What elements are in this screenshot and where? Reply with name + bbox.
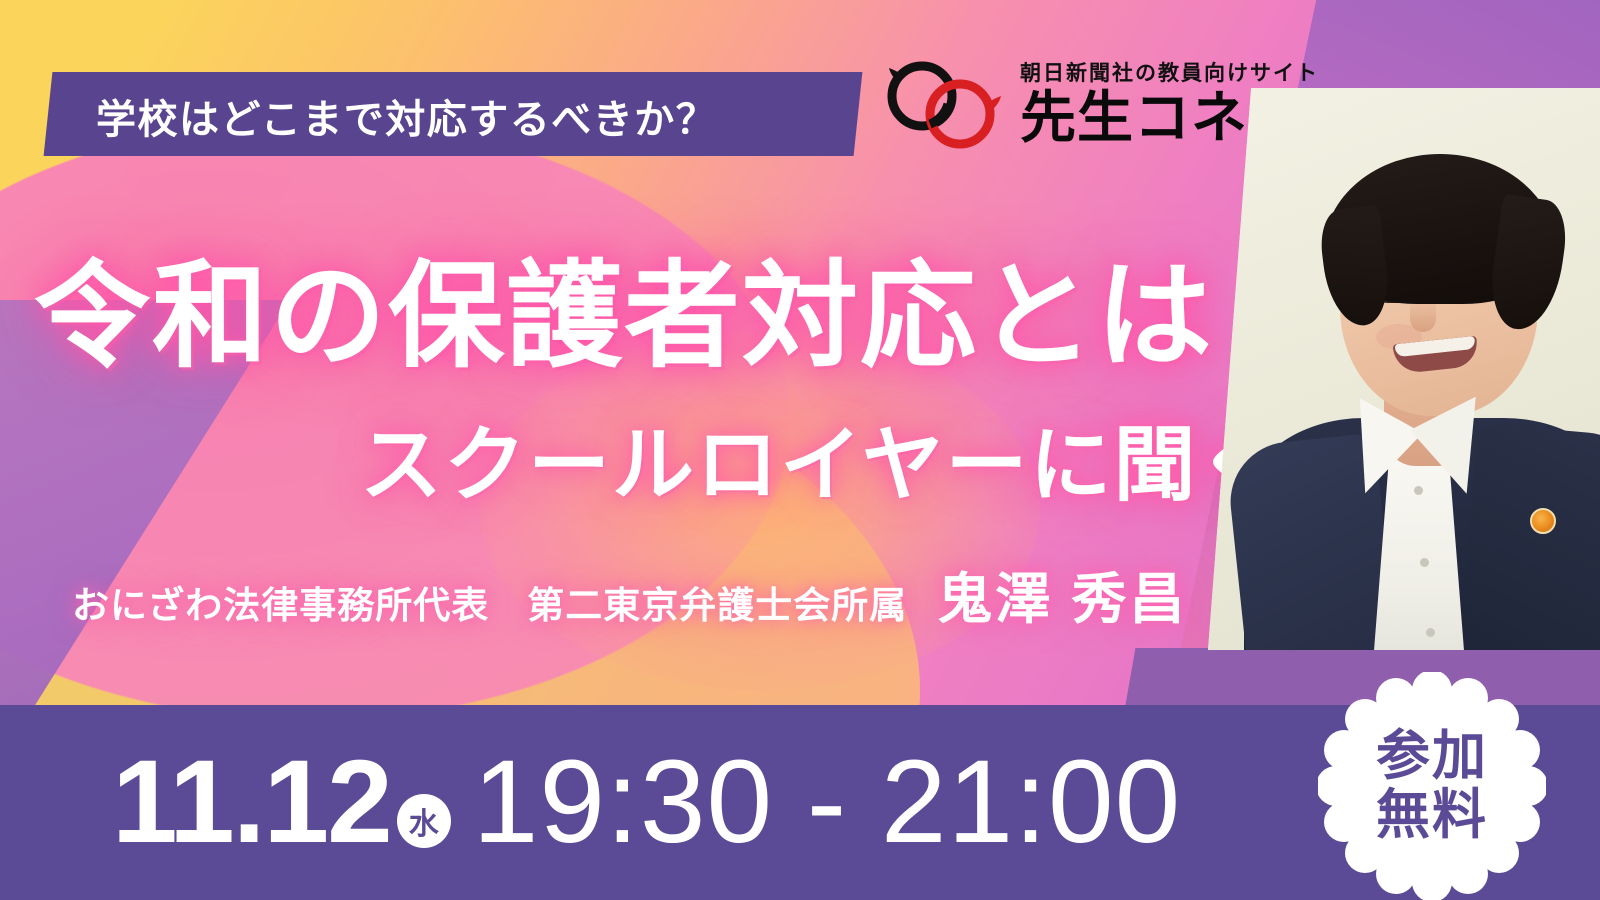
tagline-text: 学校はどこまで対応するべきか？ (96, 86, 836, 146)
free-badge-line2: 無料 (1376, 787, 1488, 844)
lawyer-badge-pin (1530, 508, 1556, 534)
interlocking-rings-icon (884, 52, 1006, 156)
free-admission-text: 参加 無料 (1318, 672, 1546, 900)
speaker-affiliation: おにざわ法律事務所代表 第二東京弁護士会所属 (72, 575, 907, 629)
page-title: 令和の保護者対応とは (34, 222, 1274, 390)
speaker-photo (1208, 88, 1600, 650)
free-badge-line1: 参加 (1376, 728, 1488, 785)
speaker-name: 鬼澤 秀昌 (937, 554, 1187, 634)
page-subtitle: スクールロイヤーに聞く (360, 398, 1360, 517)
event-date: 11.12 (112, 743, 391, 861)
free-admission-badge: 参加 無料 (1318, 672, 1546, 900)
event-time: 19:30 - 21:00 (473, 743, 1181, 861)
event-weekday-badge: 水 (397, 794, 451, 848)
webinar-banner: 学校はどこまで対応するべきか？ 朝日新聞社の教員向けサイト 先生コネクト 令和の… (0, 0, 1600, 900)
event-datetime: 11.12 水 19:30 - 21:00 (112, 718, 1181, 886)
speaker-info: おにざわ法律事務所代表 第二東京弁護士会所属 鬼澤 秀昌 (72, 554, 1188, 634)
logo-kicker: 朝日新聞社の教員向けサイト (1020, 63, 1319, 84)
